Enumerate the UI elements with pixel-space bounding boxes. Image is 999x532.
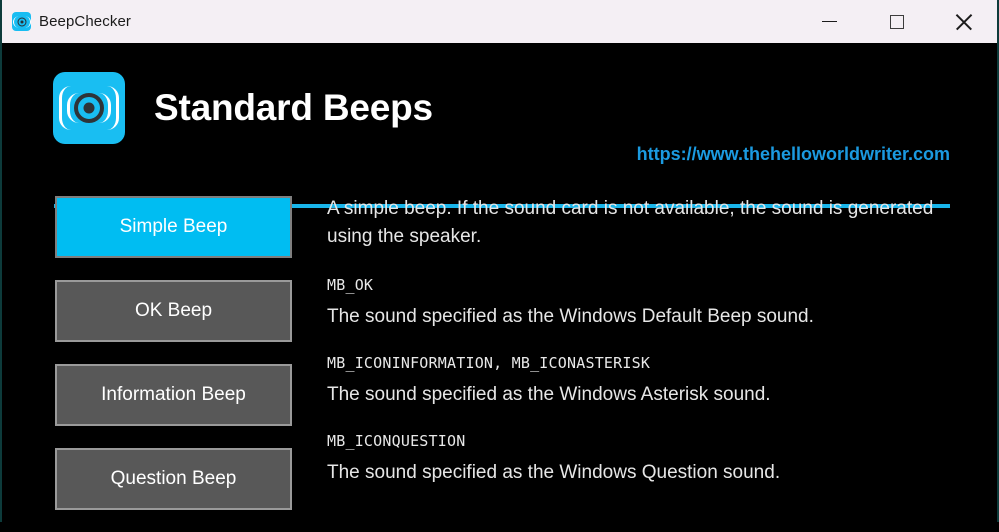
- description-constant: MB_ICONINFORMATION, MB_ICONASTERISK: [327, 354, 967, 372]
- close-icon: [955, 13, 973, 31]
- description-question: MB_ICONQUESTION The sound specified as t…: [327, 432, 967, 487]
- beep-button-information[interactable]: Information Beep: [55, 364, 292, 426]
- description-constant: MB_ICONQUESTION: [327, 432, 967, 450]
- sound-wave-icon: [12, 12, 31, 31]
- maximize-button[interactable]: [863, 0, 930, 43]
- description-text: The sound specified as the Windows Aster…: [327, 381, 967, 409]
- speaker-dot: [84, 103, 95, 114]
- window-title: BeepChecker: [39, 13, 131, 30]
- description-information: MB_ICONINFORMATION, MB_ICONASTERISK The …: [327, 354, 967, 409]
- maximize-icon: [890, 15, 904, 29]
- title-bar-left: BeepChecker: [2, 0, 796, 43]
- page-title: Standard Beeps: [154, 87, 433, 129]
- wave-arc-right: [24, 16, 31, 27]
- description-text: The sound specified as the Windows Defau…: [327, 303, 967, 331]
- page-header: Standard Beeps https://www.thehelloworld…: [2, 43, 997, 163]
- sound-wave-logo-icon: [53, 72, 125, 144]
- description-simple: A simple beep. If the sound card is not …: [327, 195, 967, 251]
- description-list: A simple beep. If the sound card is not …: [327, 195, 967, 511]
- title-bar: BeepChecker: [2, 0, 997, 43]
- beep-button-question[interactable]: Question Beep: [55, 448, 292, 510]
- description-text: A simple beep. If the sound card is not …: [327, 195, 967, 251]
- brand: Standard Beeps: [53, 72, 433, 144]
- beep-button-list: Simple Beep OK Beep Information Beep Que…: [55, 196, 292, 532]
- beep-button-simple[interactable]: Simple Beep: [55, 196, 292, 258]
- window-controls: [796, 0, 997, 43]
- content-area: Simple Beep OK Beep Information Beep Que…: [2, 167, 997, 522]
- wave-arc-outer-right: [107, 86, 119, 130]
- minimize-icon: [822, 21, 837, 23]
- website-link[interactable]: https://www.thehelloworldwriter.com: [637, 144, 950, 165]
- minimize-button[interactable]: [796, 0, 863, 43]
- application-window: BeepChecker Standard Beeps: [0, 0, 999, 522]
- close-button[interactable]: [930, 0, 997, 43]
- description-ok: MB_OK The sound specified as the Windows…: [327, 276, 967, 331]
- beep-button-ok[interactable]: OK Beep: [55, 280, 292, 342]
- description-constant: MB_OK: [327, 276, 967, 294]
- description-text: The sound specified as the Windows Quest…: [327, 459, 967, 487]
